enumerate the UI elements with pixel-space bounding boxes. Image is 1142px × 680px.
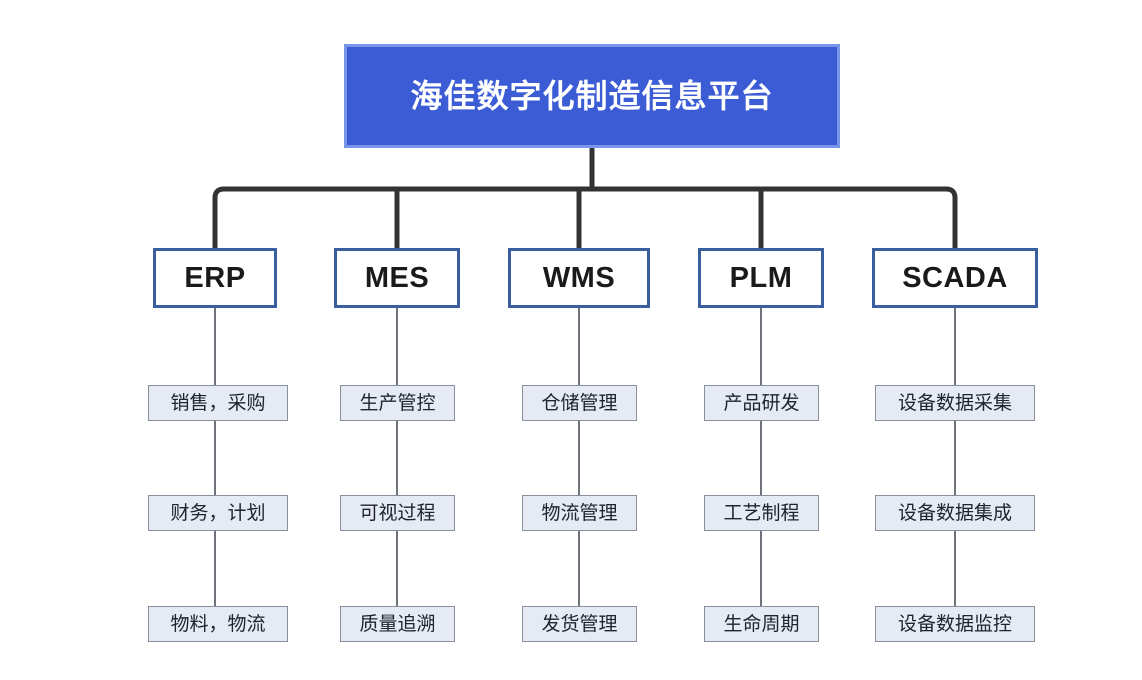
leaf-box-wms-1[interactable]: 仓储管理 [522,385,637,421]
leaf-label-plm-2: 工艺制程 [723,504,799,523]
module-box-wms[interactable]: WMS [508,248,650,308]
leaf-box-wms-2[interactable]: 物流管理 [522,495,637,531]
module-box-plm[interactable]: PLM [698,248,824,308]
leaf-box-erp-2[interactable]: 财务，计划 [148,495,288,531]
leaf-box-mes-3[interactable]: 质量追溯 [340,606,455,642]
leaf-label-scada-3: 设备数据监控 [898,615,1012,634]
leaf-label-scada-2: 设备数据集成 [898,504,1012,523]
platform-title-label: 海佳数字化制造信息平台 [410,80,773,112]
leaf-box-scada-2[interactable]: 设备数据集成 [875,495,1035,531]
leaf-label-mes-3: 质量追溯 [359,615,435,634]
leaf-label-mes-2: 可视过程 [359,504,435,523]
leaf-label-mes-1: 生产管控 [359,394,435,413]
leaf-box-erp-3[interactable]: 物料，物流 [148,606,288,642]
org-chart-diagram: 海佳数字化制造信息平台 ERP MES WMS PLM SCADA 销售，采购 … [0,0,1142,680]
platform-title-box[interactable]: 海佳数字化制造信息平台 [344,44,840,148]
leaf-label-plm-1: 产品研发 [723,394,799,413]
leaf-box-scada-1[interactable]: 设备数据采集 [875,385,1035,421]
module-label-plm: PLM [730,264,793,293]
module-box-mes[interactable]: MES [334,248,460,308]
leaf-label-wms-2: 物流管理 [541,504,617,523]
leaf-box-plm-2[interactable]: 工艺制程 [704,495,819,531]
leaf-label-scada-1: 设备数据采集 [898,394,1012,413]
module-box-erp[interactable]: ERP [153,248,277,308]
leaf-box-erp-1[interactable]: 销售，采购 [148,385,288,421]
leaf-label-wms-1: 仓储管理 [541,394,617,413]
module-label-erp: ERP [184,264,245,293]
module-label-mes: MES [365,264,429,293]
distribution-bus [215,189,955,248]
leaf-box-mes-1[interactable]: 生产管控 [340,385,455,421]
leaf-box-plm-1[interactable]: 产品研发 [704,385,819,421]
leaf-label-wms-3: 发货管理 [541,615,617,634]
leaf-box-mes-2[interactable]: 可视过程 [340,495,455,531]
leaf-box-plm-3[interactable]: 生命周期 [704,606,819,642]
module-box-scada[interactable]: SCADA [872,248,1038,308]
leaf-label-erp-1: 销售，采购 [170,394,265,413]
leaf-label-plm-3: 生命周期 [723,615,799,634]
leaf-label-erp-2: 财务，计划 [170,504,265,523]
module-label-scada: SCADA [902,264,1008,293]
leaf-box-scada-3[interactable]: 设备数据监控 [875,606,1035,642]
leaf-box-wms-3[interactable]: 发货管理 [522,606,637,642]
leaf-label-erp-3: 物料，物流 [170,615,265,634]
module-label-wms: WMS [543,264,615,293]
